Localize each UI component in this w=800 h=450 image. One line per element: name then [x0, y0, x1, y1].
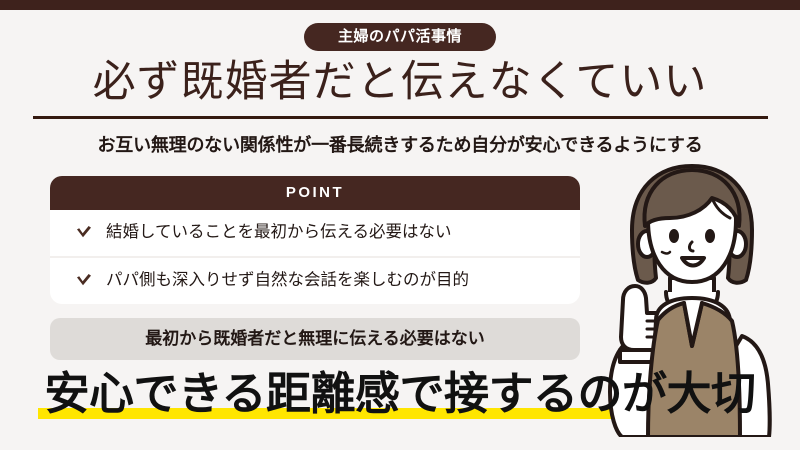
summary-pill: 最初から既婚者だと無理に伝える必要はない — [50, 318, 580, 360]
conclusion-banner-text: 安心できる距離感で接するのが大切 — [44, 368, 755, 419]
top-accent-bar — [0, 0, 800, 10]
infographic-slide: 主婦のパパ活事情 必ず既婚者だと伝えなくていい お互い無理のない関係性が一番長続… — [0, 0, 800, 450]
point-card: POINT 結婚していることを最初から伝える必要はない パパ側も深入りせず自然な… — [50, 176, 580, 304]
list-item: 結婚していることを最初から伝える必要はない — [50, 210, 580, 256]
category-badge: 主婦のパパ活事情 — [304, 23, 496, 51]
page-subtitle: お互い無理のない関係性が一番長続きするため自分が安心できるようにする — [0, 135, 800, 157]
list-item-label: パパ側も深入りせず自然な会話を楽しむのが目的 — [106, 271, 469, 291]
list-item-label: 結婚していることを最初から伝える必要はない — [106, 223, 452, 243]
page-title: 必ず既婚者だと伝えなくていい — [0, 58, 800, 107]
check-icon — [74, 271, 94, 291]
conclusion-banner: 安心できる距離感で接するのが大切 — [0, 366, 800, 422]
point-card-header: POINT — [50, 176, 580, 210]
title-divider — [33, 116, 768, 119]
check-icon — [74, 223, 94, 243]
list-item: パパ側も深入りせず自然な会話を楽しむのが目的 — [50, 256, 580, 304]
